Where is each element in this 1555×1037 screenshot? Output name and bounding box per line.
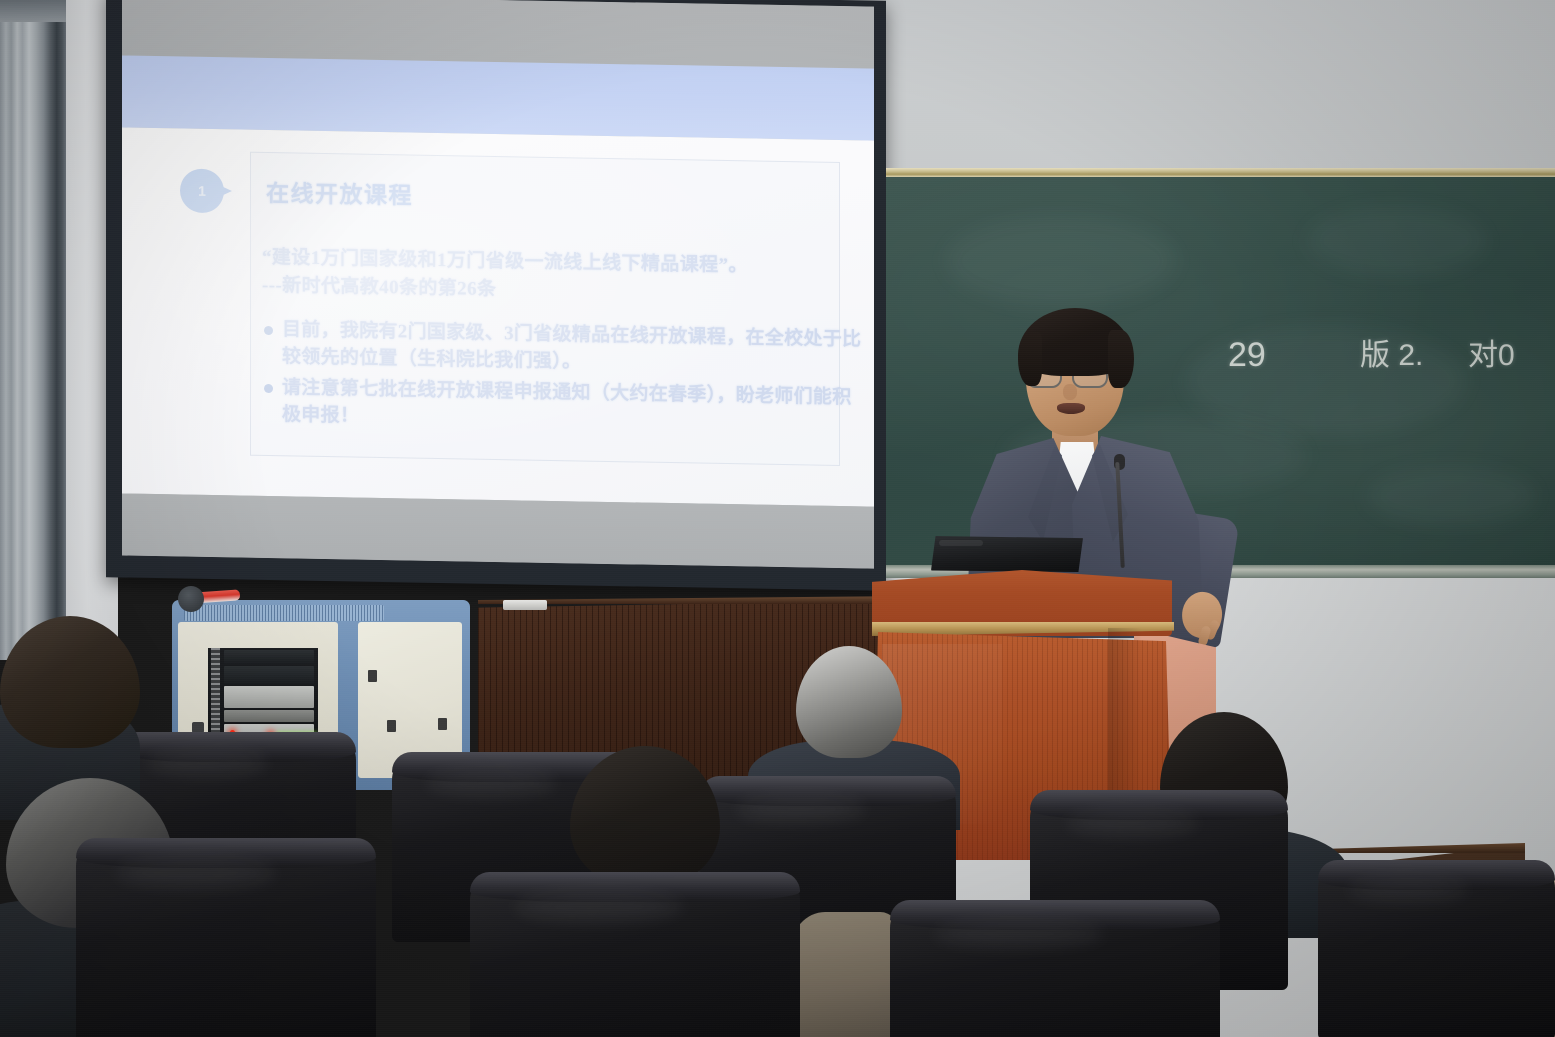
audience-head [570,746,720,886]
projector-letterbox-bottom [122,493,874,568]
auditorium-seat[interactable] [470,872,800,1037]
slide-header-band [122,55,874,140]
badge-number-text: 1 [180,168,224,213]
slide-number-badge: 1 [180,168,234,213]
presenter-nose [1063,384,1077,400]
cabinet-lock-icon[interactable] [368,670,377,682]
slide-bullet-list: 目前，我院有2门国家级、3门省级精品在线开放课程，在全校处于比较领先的位置（生科… [262,316,862,442]
presenter-hair-right [1108,330,1134,388]
rack-unit [224,650,314,664]
rack-unit [224,666,314,684]
slide-bullet-item: 请注意第七批在线开放课程申报通知（大约在春季），盼老师们能积极申报！ [262,374,862,438]
slide-quote: “建设1万门国家级和1万门省级一流线上线下精品课程”。 ---新时代高教40条的… [262,244,822,310]
cabinet-lock-icon[interactable] [387,720,396,732]
auditorium-seat[interactable] [76,838,376,1037]
curtain-rail [0,0,66,22]
slide-quote-text: “建设1万门国家级和1万门省级一流线上线下精品课程”。 [262,247,748,276]
chalk-note-2: 版 2. [1360,330,1423,374]
auditorium-seat[interactable] [890,900,1220,1037]
laptop-screen-reflection [939,540,983,546]
audience-head [0,616,140,748]
cable-reel-disc [178,586,204,612]
cabinet-lock-icon[interactable] [438,718,447,730]
slide-title: 在线开放课程 [266,174,413,211]
rack-unit [224,686,314,708]
audience-head [796,646,902,758]
rack-unit [224,710,314,722]
chalk-note-3: 对0 [1468,330,1515,374]
window-curtain [0,0,66,660]
chalk-note-1: 29 [1228,336,1266,375]
cable-reel [178,586,240,612]
lecture-hall-photo: 29 版 2. 对0 1 在线开放课程 “建设1万门国家级和1万门省级一流线上线… [0,0,1555,1037]
presenter-mouth [1057,403,1085,414]
laptop[interactable] [931,536,1083,572]
slide-bullet-item: 目前，我院有2门国家级、3门省级精品在线开放课程，在全校处于比较领先的位置（生科… [262,316,862,380]
panel-top-object [503,600,547,610]
projection-screen-frame: 1 在线开放课程 “建设1万门国家级和1万门省级一流线上线下精品课程”。 ---… [106,0,886,591]
presenter-hair-left [1018,332,1042,386]
auditorium-seat[interactable] [1318,860,1555,1037]
audience-bag-strap [790,912,900,1037]
slide-body: 1 在线开放课程 “建设1万门国家级和1万门省级一流线上线下精品课程”。 ---… [122,127,874,506]
projection-screen-surface: 1 在线开放课程 “建设1万门国家级和1万门省级一流线上线下精品课程”。 ---… [122,0,874,569]
chalkboard-top-trim [886,168,1555,177]
